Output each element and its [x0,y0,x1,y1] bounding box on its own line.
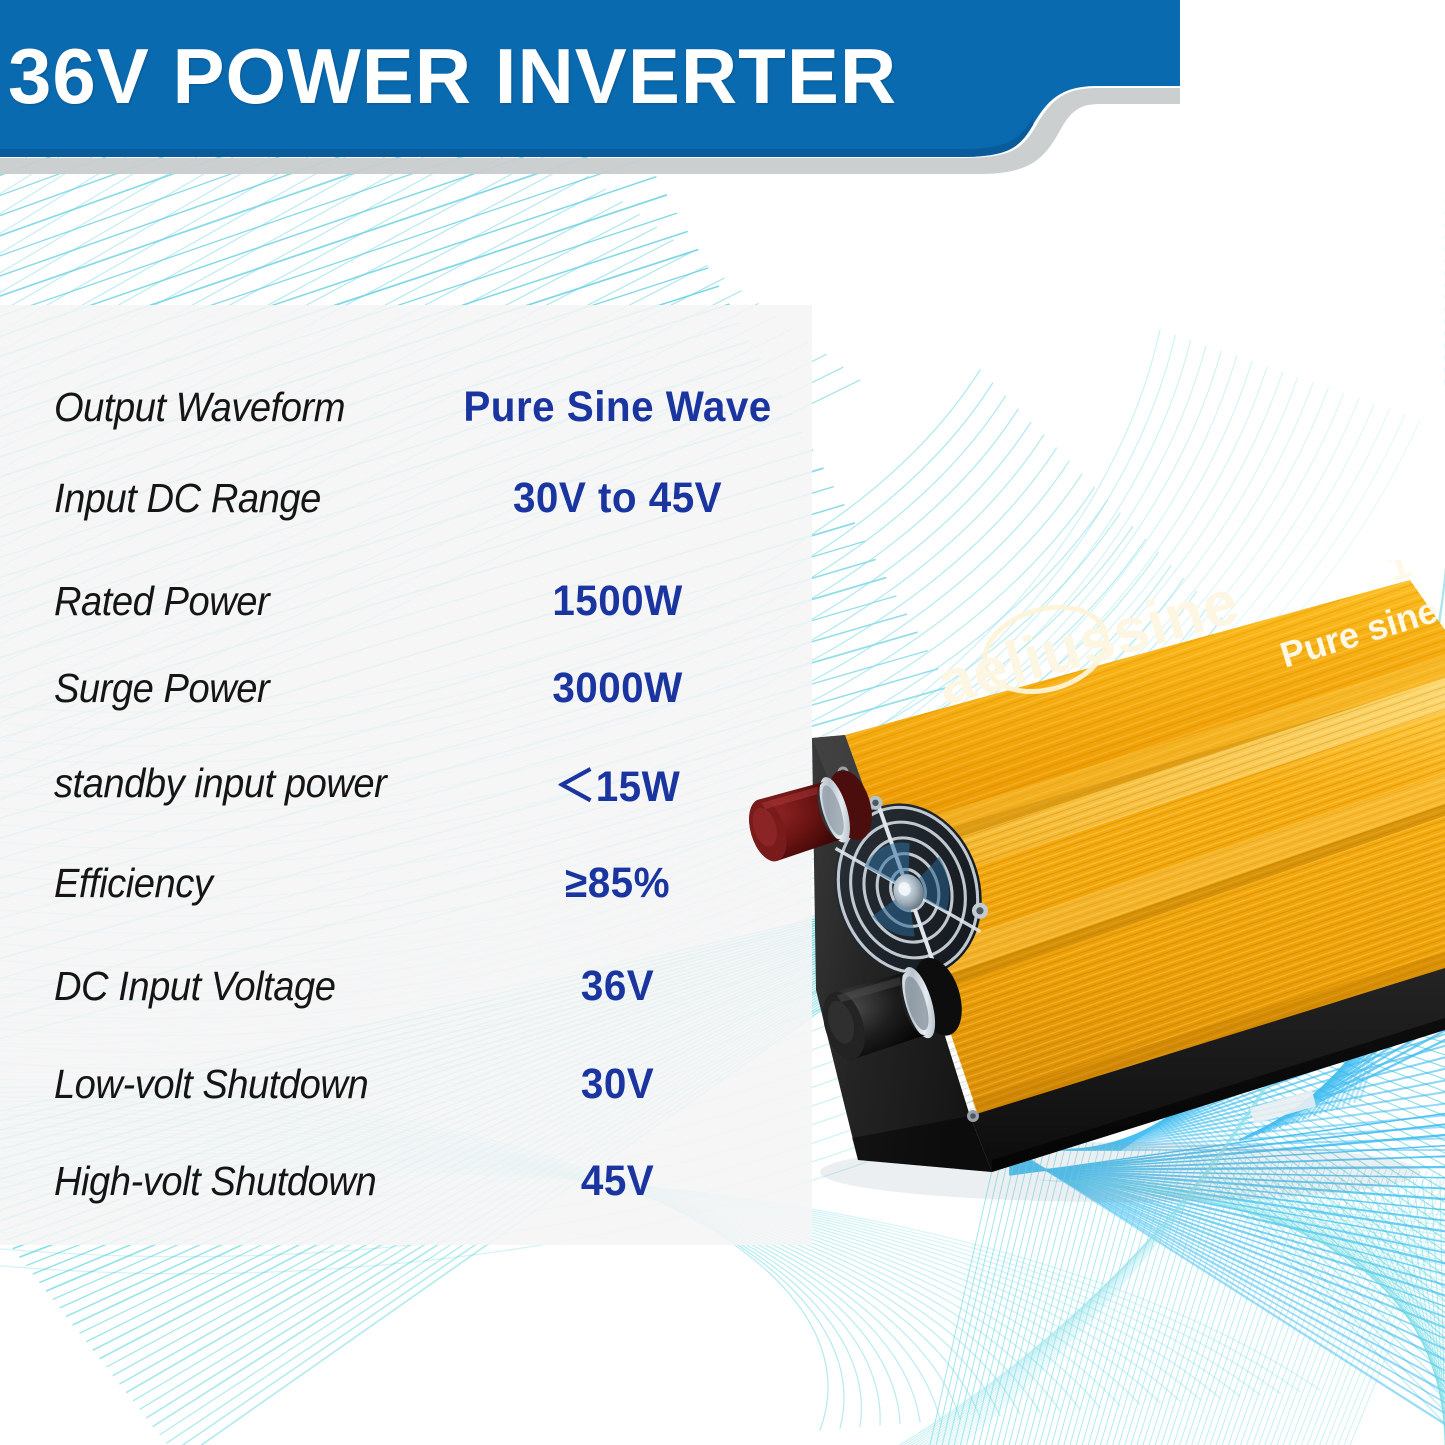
spec-value: Pure Sine Wave [451,383,801,432]
spec-label: Rated Power [0,578,409,625]
svg-text:1: 1 [1382,560,1416,591]
spec-value: ＜15W [451,752,801,814]
brand-name: aeliussine [930,567,1247,719]
table-row: Low-volt Shutdown 30V [0,1036,812,1132]
screw-top-left [838,767,849,778]
spec-value: 30V [451,1060,801,1109]
specifications-table: Output Waveform Pure Sine Wave Input DC … [0,305,812,1245]
table-row: Output Waveform Pure Sine Wave [0,359,812,455]
page-title: 36V POWER INVERTER [8,30,897,122]
spec-value: 45V [451,1157,801,1206]
product-infographic: // 36V POWER INVERTER [0,0,1445,1445]
table-row: Surge Power 3000W [0,640,812,736]
table-row: standby input power ＜15W [0,735,812,831]
inverter-front-plate [812,735,992,1172]
spec-label: Input DC Range [0,475,409,522]
spec-label: Output Waveform [0,384,409,431]
cooling-fan [809,773,1005,1000]
inverter-finned-side [890,680,1445,1136]
brand-logo: aeliussine [927,560,1247,719]
spec-value: 1500W [451,577,801,626]
spec-label: standby input power [0,760,409,807]
negative-terminal-black [814,952,970,1069]
mounting-foot-tab [1250,1090,1316,1124]
screw-bottom-right [967,1110,979,1122]
spec-value: ≥85% [451,859,801,908]
fan-screw-top [867,794,885,812]
spec-label: DC Input Voltage [0,963,409,1010]
product-rating-text: 1 [1382,560,1416,591]
table-row: Input DC Range 30V to 45V [0,450,812,546]
table-row: High-volt Shutdown 45V [0,1133,812,1229]
spec-value: 36V [451,962,801,1011]
table-row: DC Input Voltage 36V [0,938,812,1034]
fan-guard-rings [817,789,998,991]
specifications-panel: Output Waveform Pure Sine Wave Input DC … [0,305,812,1245]
spec-label: High-volt Shutdown [0,1158,409,1205]
spec-value: 3000W [451,664,801,713]
product-tagline: Pure sine [1275,589,1442,676]
svg-text:Pure sine: Pure sine [1275,589,1442,676]
spec-value: 30V to 45V [451,474,801,523]
table-row: Rated Power 1500W [0,553,812,649]
brand-circle-icon [975,594,1116,705]
fan-screw-right [970,901,990,921]
screw-mid [876,861,886,871]
spec-label: Efficiency [0,860,409,907]
table-row: Efficiency ≥85% [0,835,812,931]
inverter-top-face [845,580,1445,860]
spec-label: Surge Power [0,665,409,712]
spec-label: Low-volt Shutdown [0,1061,409,1108]
